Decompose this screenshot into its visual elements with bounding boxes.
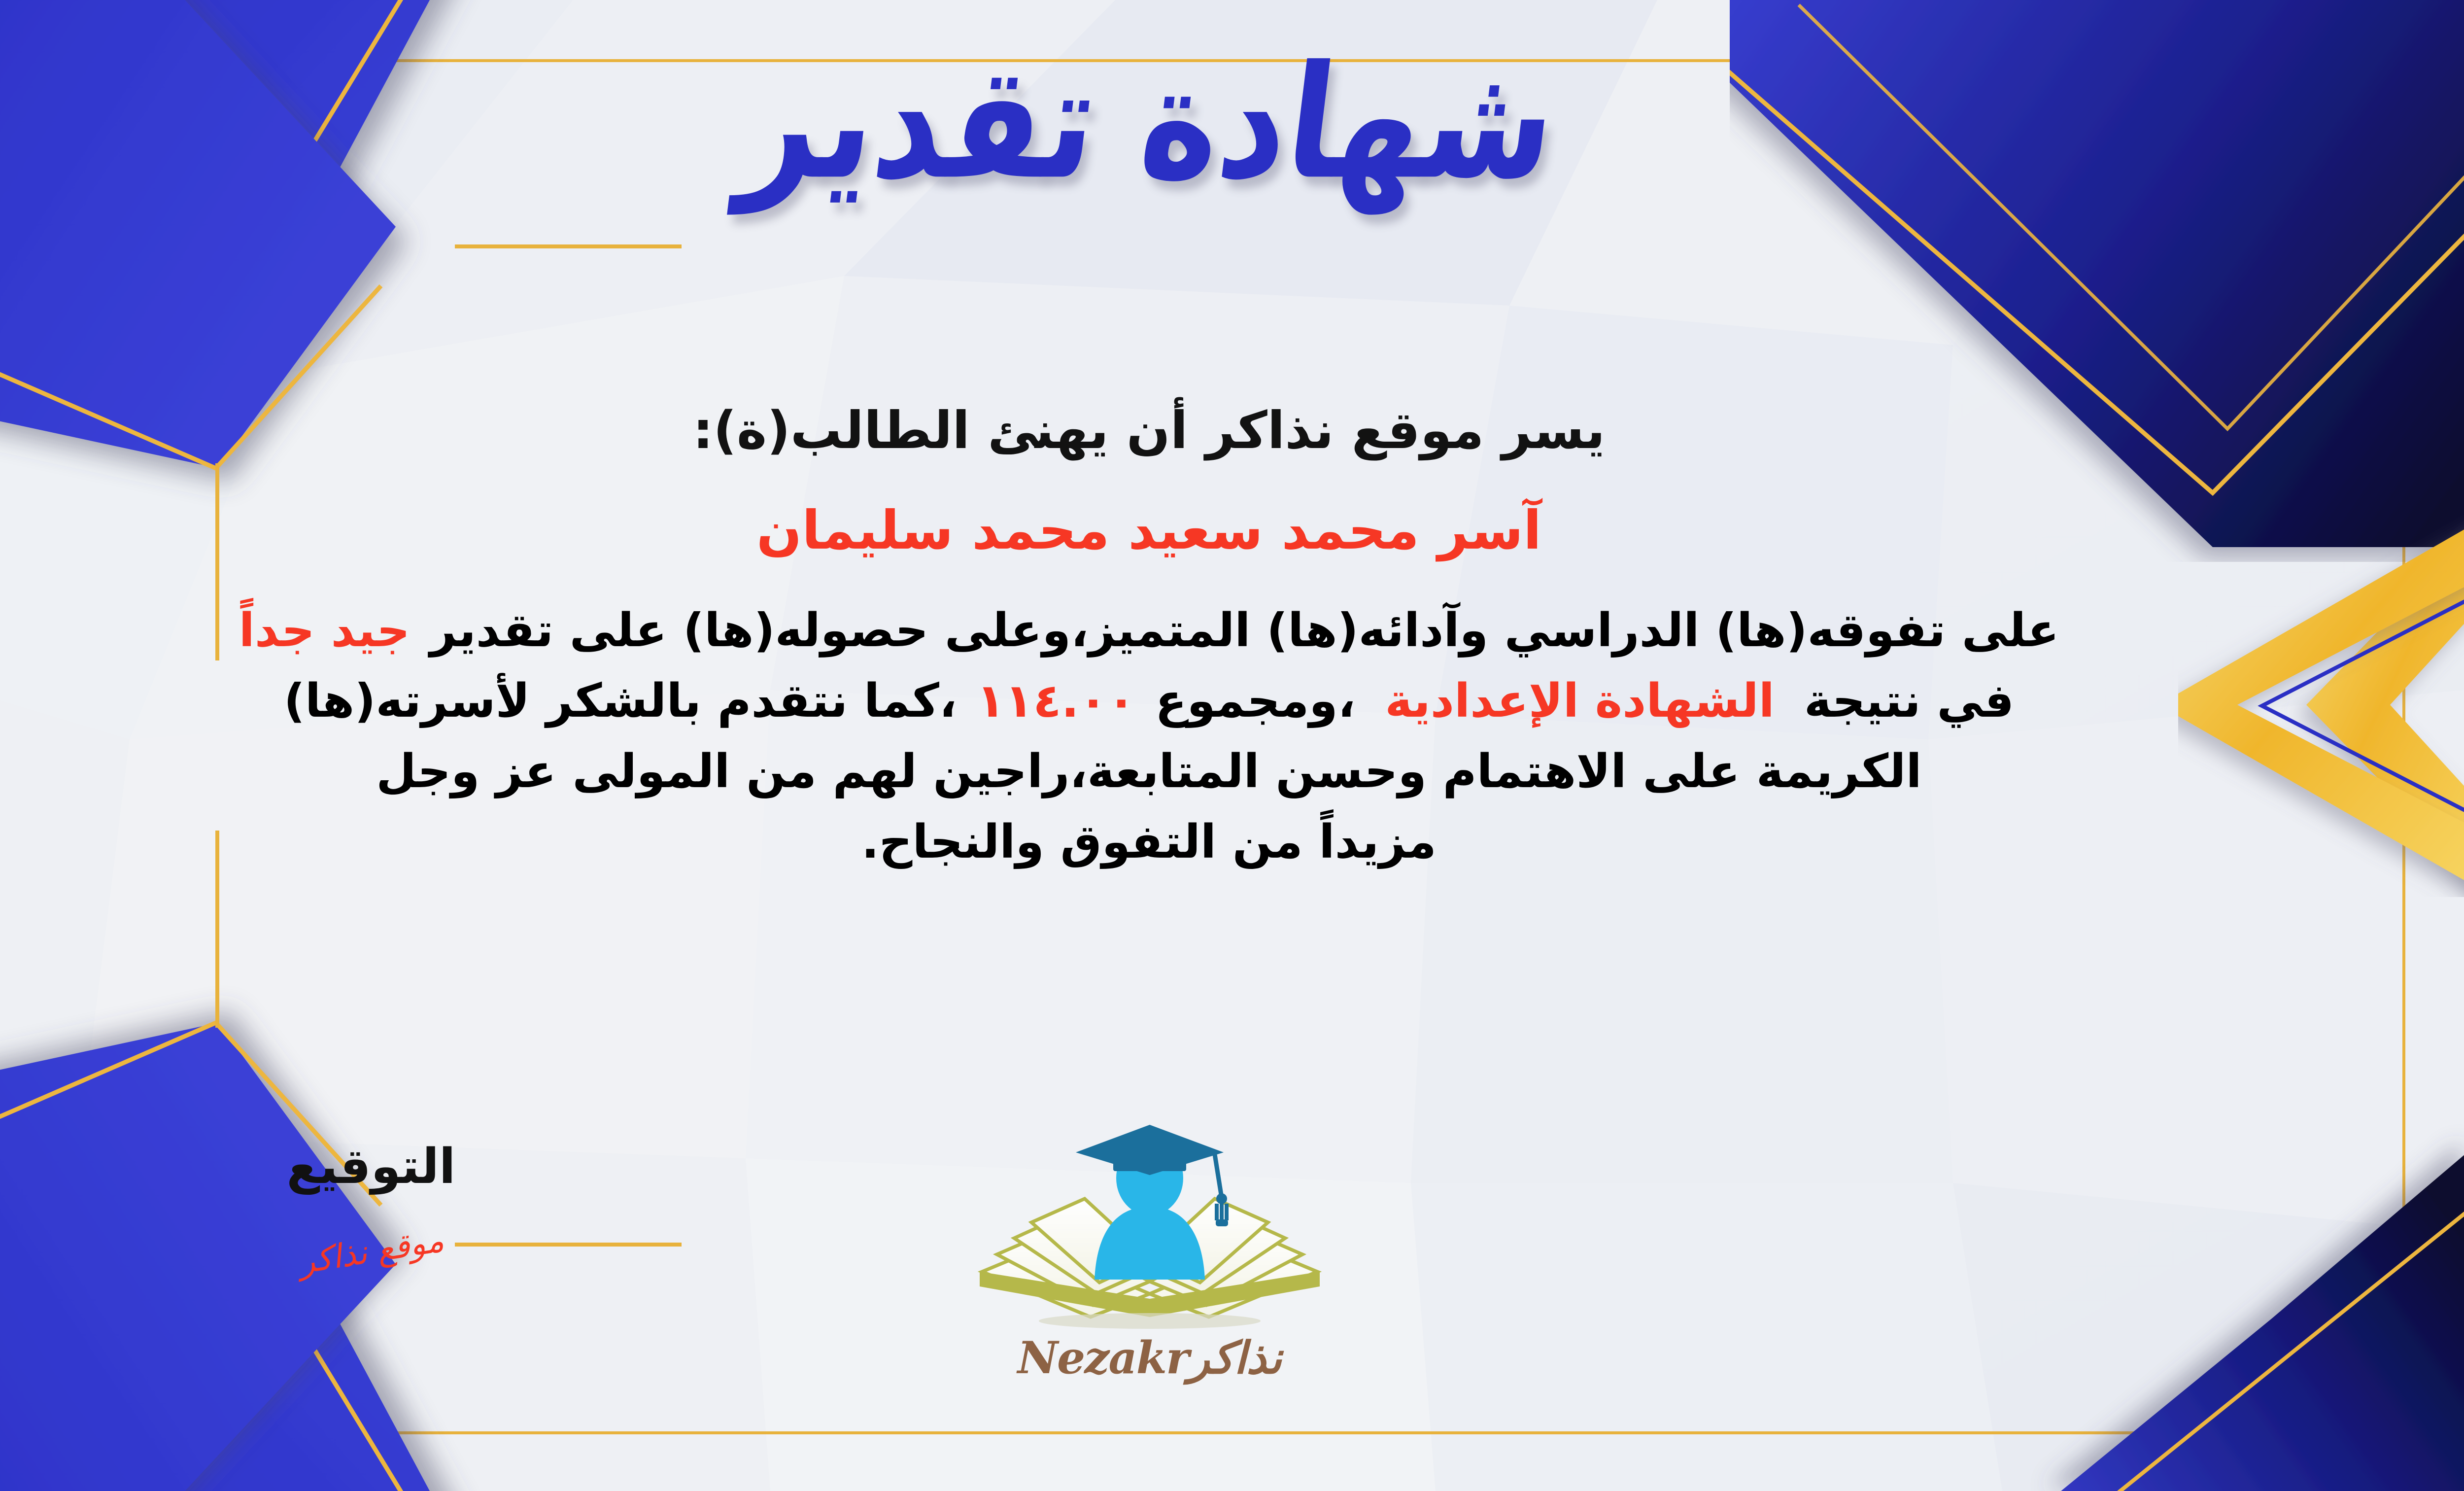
total-label: ،ومجموع bbox=[1155, 674, 1355, 728]
signature-area: التوقيع موقع نذاكر bbox=[199, 1139, 544, 1270]
signature-mark: موقع نذاكر bbox=[296, 1221, 446, 1281]
corner-decoration-bottom-right bbox=[1927, 1121, 2464, 1491]
result-line: في نتيجةالشهادة الإعدادية،ومجموع١١٤.٠٠،ك… bbox=[0, 666, 2380, 737]
closing-wish-line: مزيداً من التفوق والنجاح. bbox=[0, 807, 2380, 878]
signature-label: التوقيع bbox=[199, 1139, 544, 1195]
logo-brand-latin: Nezakr bbox=[1018, 1332, 1189, 1384]
achievement-line: على تفوقه(ها) الدراسي وآدائه(ها) المتميز… bbox=[0, 596, 2380, 666]
certificate-body: يسر موقع نذاكر أن يهنئ الطالب(ة): آسر مح… bbox=[0, 394, 2380, 878]
student-name: آسر محمد سعيد محمد سليمان bbox=[0, 493, 2380, 568]
grade-value: جيد جداً bbox=[239, 604, 410, 658]
thanks-text: ،كما نتقدم بالشكر لأسرته(ها) bbox=[284, 674, 957, 728]
certificate-title: شهادة تقدير bbox=[733, 42, 1565, 206]
family-thanks-line: الكريمة على الاهتمام وحسن المتابعة،راجين… bbox=[0, 737, 2380, 807]
exam-name: الشهادة الإعدادية bbox=[1385, 674, 1774, 728]
certificate-title-wrap: شهادة تقدير bbox=[0, 54, 2464, 193]
result-prefix: في نتيجة bbox=[1804, 674, 2014, 728]
certificate-canvas: شهادة تقدير يسر موقع نذاكر أن يهنئ الطال… bbox=[0, 0, 2464, 1491]
logo-wordmark: نذاكرNezakr bbox=[967, 1332, 1332, 1384]
graduate-book-icon bbox=[967, 1124, 1332, 1341]
total-score: ١١٤.٠٠ bbox=[977, 674, 1136, 728]
achievement-text: على تفوقه(ها) الدراسي وآدائه(ها) المتميز… bbox=[430, 604, 2059, 658]
logo-brand-arabic: نذاكر bbox=[1188, 1332, 1282, 1384]
congratulation-intro: يسر موقع نذاكر أن يهنئ الطالب(ة): bbox=[0, 394, 2380, 467]
site-logo: نذاكرNezakr bbox=[967, 1124, 1332, 1384]
